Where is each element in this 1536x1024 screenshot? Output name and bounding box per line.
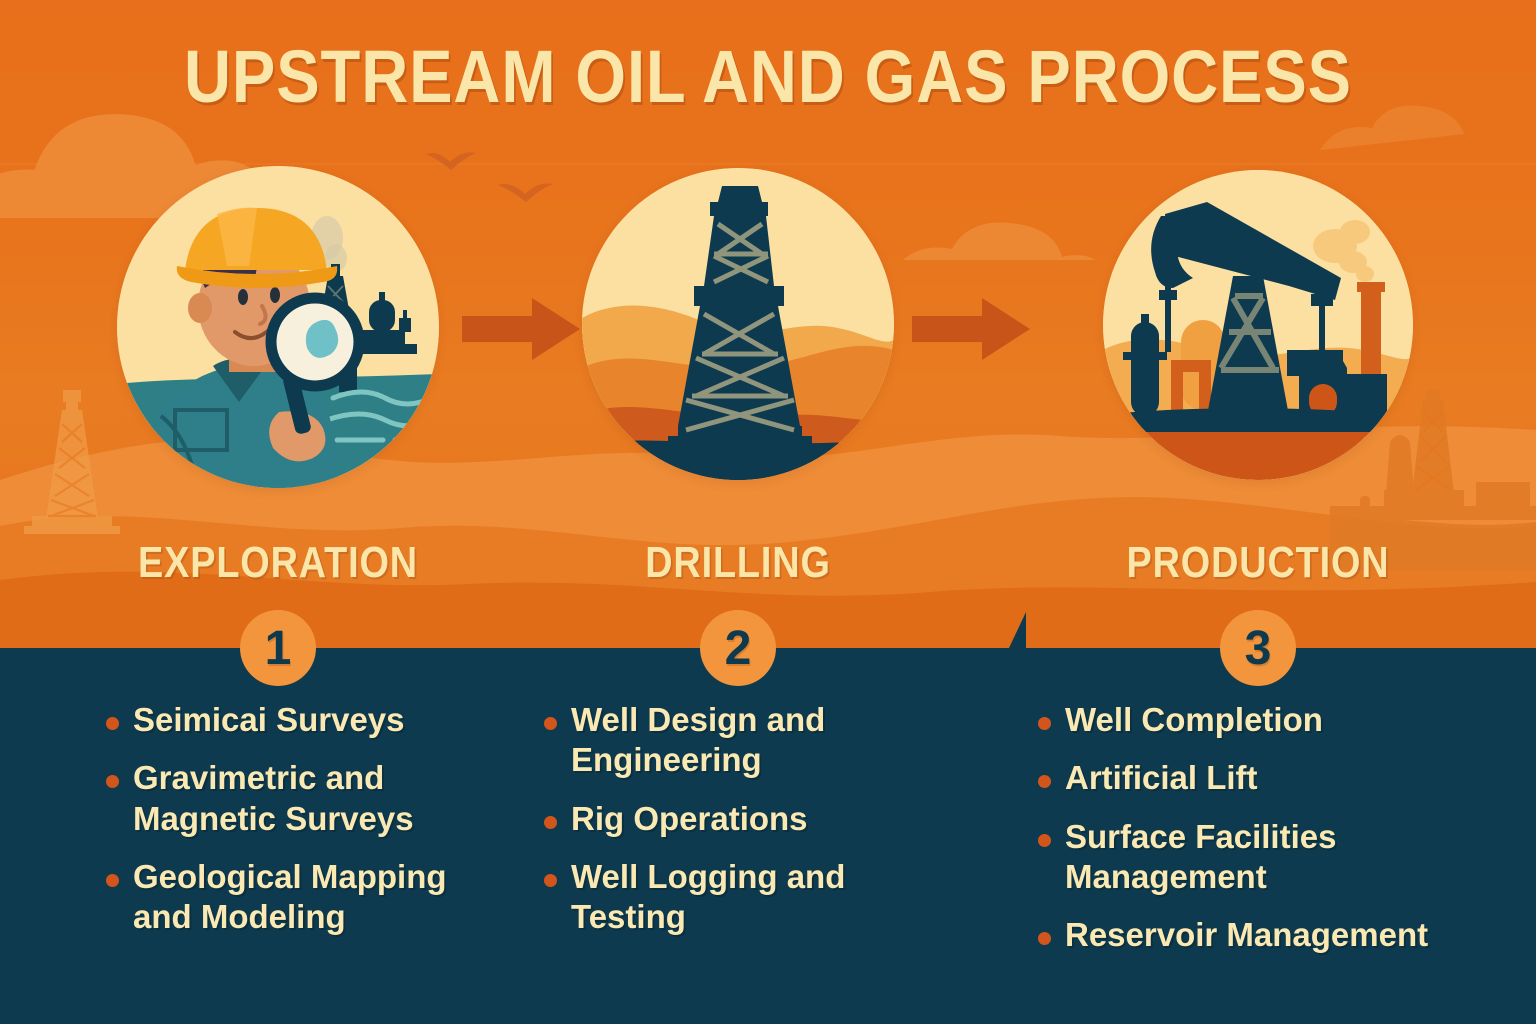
list-item: Well Design and Engineering — [544, 700, 962, 781]
bullet-text: Rig Operations — [571, 799, 808, 839]
bullet-text: Surface Facilities Management — [1065, 817, 1482, 898]
bullet-dot-icon — [544, 717, 557, 730]
list-item: Gravimetric and Magnetic Surveys — [106, 758, 502, 839]
list-item: Well Completion — [1038, 700, 1482, 740]
arrow-exploration-to-drilling — [462, 296, 580, 362]
arrow-drilling-to-production — [912, 296, 1030, 362]
list-item: Rig Operations — [544, 799, 962, 839]
bullet-text: Seimicai Surveys — [133, 700, 405, 740]
bullet-list-exploration: Seimicai Surveys Gravimetric and Magneti… — [48, 700, 508, 955]
geologist-with-magnifying-glass-icon — [117, 166, 439, 488]
bullet-list-production: Well Completion Artificial Lift Surface … — [1028, 700, 1488, 973]
bullet-dot-icon — [1038, 834, 1051, 847]
list-item: Geological Mapping and Modeling — [106, 857, 502, 938]
list-item: Seimicai Surveys — [106, 700, 502, 740]
bullet-dot-icon — [106, 874, 119, 887]
list-item: Surface Facilities Management — [1038, 817, 1482, 898]
panel-notch — [1008, 612, 1026, 650]
bullet-text: Reservoir Management — [1065, 915, 1428, 955]
bullet-text: Well Logging and Testing — [571, 857, 962, 938]
bullet-dot-icon — [1038, 717, 1051, 730]
bullet-text: Gravimetric and Magnetic Surveys — [133, 758, 502, 839]
stage-label-production: PRODUCTION — [1060, 538, 1456, 588]
bullet-dot-icon — [106, 717, 119, 730]
bullet-text: Artificial Lift — [1065, 758, 1258, 798]
list-item: Reservoir Management — [1038, 915, 1482, 955]
bullet-dot-icon — [544, 816, 557, 829]
bullet-dot-icon — [1038, 932, 1051, 945]
stage-badge-2: 2 — [700, 610, 776, 686]
stage-badge-1: 1 — [240, 610, 316, 686]
bullet-dot-icon — [1038, 775, 1051, 788]
bullet-text: Well Completion — [1065, 700, 1323, 740]
bullet-list-drilling: Well Design and Engineering Rig Operatio… — [508, 700, 968, 955]
stage-column-exploration: EXPLORATION 1 Seimicai Surveys Gravimetr… — [48, 0, 508, 1024]
pumpjack-production-facility-icon — [1103, 170, 1413, 480]
bullet-text: Geological Mapping and Modeling — [133, 857, 502, 938]
stage-label-exploration: EXPLORATION — [80, 538, 476, 588]
stage-column-production: PRODUCTION 3 Well Completion Artificial … — [1028, 0, 1488, 1024]
bullet-dot-icon — [544, 874, 557, 887]
bullet-text: Well Design and Engineering — [571, 700, 962, 781]
list-item: Artificial Lift — [1038, 758, 1482, 798]
infographic-canvas: UPSTREAM OIL AND GAS PROCESS — [0, 0, 1536, 1024]
stage-label-drilling: DRILLING — [540, 538, 936, 588]
bullet-dot-icon — [106, 775, 119, 788]
drilling-derrick-icon — [582, 168, 894, 480]
stage-badge-3: 3 — [1220, 610, 1296, 686]
stage-column-drilling: DRILLING 2 Well Design and Engineering R… — [508, 0, 968, 1024]
list-item: Well Logging and Testing — [544, 857, 962, 938]
